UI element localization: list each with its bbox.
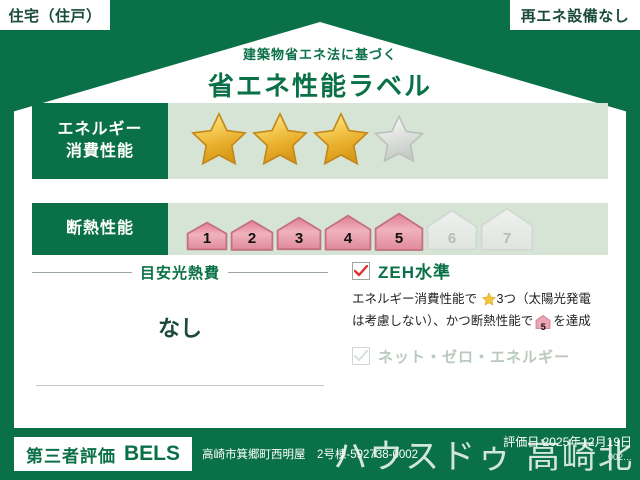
zeh-description: エネルギー消費性能で 3つ（太陽光発電 は考慮しない）、かつ断熱性能で 5 を達… <box>352 290 610 336</box>
bels-en-text: BELS <box>124 442 180 466</box>
zeh-header: ZEH水準 <box>352 258 610 283</box>
net-zero-energy-label: ネット・ゼロ・エネルギー <box>378 346 570 367</box>
insulation-label-text: 断熱性能 <box>66 218 134 240</box>
cost-bottom-divider <box>36 385 324 386</box>
title-subtitle: 建築物省エネ法に基づく <box>0 44 640 63</box>
zeh-desc-part2: は考慮しない）、かつ断熱性能で <box>352 314 533 328</box>
cost-title: 目安光熱費 <box>140 262 220 283</box>
zeh-panel: ZEH水準 エネルギー消費性能で 3つ（太陽光発電 は考慮しない）、かつ断熱性能… <box>352 258 610 367</box>
house-level-number: 6 <box>426 230 478 247</box>
page-title: 省エネ性能ラベル <box>0 66 640 103</box>
star-filled-icon <box>312 110 370 173</box>
house-level-number: 7 <box>480 230 534 247</box>
estimated-utility-cost-panel: 目安光熱費 なし <box>32 262 328 390</box>
house-level-number: 4 <box>324 230 372 247</box>
net-zero-energy-row: ネット・ゼロ・エネルギー <box>352 346 610 367</box>
cost-value: なし <box>32 311 328 343</box>
house-level-filled: 5 <box>374 212 424 252</box>
zeh-desc-stars: 3つ（太陽光発電 <box>497 292 591 306</box>
house-rating-scale: 1234567 <box>186 207 534 251</box>
house-level-filled: 3 <box>276 216 322 251</box>
title-block: 建築物省エネ法に基づく 省エネ性能ラベル <box>0 44 640 103</box>
house-level-filled: 4 <box>324 214 372 251</box>
zeh-desc-part1: エネルギー消費性能で <box>352 292 477 306</box>
insulation-performance-label: 断熱性能 <box>32 203 168 255</box>
row-energy-performance: エネルギー 消費性能 <box>32 103 608 179</box>
rule-left <box>32 272 132 273</box>
star-filled-icon <box>251 110 309 173</box>
house-level-number: 1 <box>186 230 228 247</box>
insulation-performance-scale: 1234567 <box>168 203 608 255</box>
energy-performance-label: エネルギー 消費性能 <box>32 103 168 179</box>
evaluation-date-sub: 002… <box>503 451 632 464</box>
house-level-filled: 2 <box>230 219 274 251</box>
net-zero-checkbox-unchecked-icon <box>352 347 370 365</box>
cost-title-row: 目安光熱費 <box>32 262 328 283</box>
house-level-number: 3 <box>276 230 322 247</box>
house-level-empty: 7 <box>480 207 534 251</box>
energy-label-card: 住宅（住戸） 再エネ設備なし 建築物省エネ法に基づく 省エネ性能ラベル エネルギ… <box>0 0 640 480</box>
rule-right <box>228 272 328 273</box>
bels-jp-text: 第三者評価 <box>26 442 116 467</box>
house-level-filled: 1 <box>186 221 228 251</box>
bels-logo: 第三者評価 BELS <box>14 437 192 471</box>
house-level-number: 5 <box>374 230 424 247</box>
evaluation-date: 評価日 2025年12月19日 <box>503 434 632 451</box>
star-filled-icon <box>190 110 248 173</box>
inline-house-icon: 5 <box>535 315 551 335</box>
row-insulation-performance: 断熱性能 1234567 <box>32 203 608 255</box>
property-address: 高崎市箕郷町西明屋 2号棟-592738-0002 <box>202 446 418 462</box>
star-rating <box>190 110 425 173</box>
zeh-title: ZEH水準 <box>378 258 451 283</box>
badge-housing-type: 住宅（住戸） <box>0 0 110 30</box>
zeh-checkbox-checked-icon <box>352 262 370 280</box>
house-level-empty: 6 <box>426 209 478 251</box>
inline-star-icon <box>478 295 495 309</box>
star-empty-icon <box>373 113 425 170</box>
inline-house-number: 5 <box>535 315 551 335</box>
footer: 第三者評価 BELS 高崎市箕郷町西明屋 2号棟-592738-0002 評価日… <box>0 428 640 480</box>
badge-renewable-equipment: 再エネ設備なし <box>510 0 640 30</box>
zeh-desc-part3: を達成 <box>553 314 591 328</box>
energy-performance-stars <box>168 103 608 179</box>
evaluation-date-block: 評価日 2025年12月19日 002… <box>503 434 632 463</box>
house-level-number: 2 <box>230 230 274 247</box>
energy-label-line1: エネルギー <box>57 119 142 141</box>
energy-label-line2: 消費性能 <box>66 141 134 163</box>
